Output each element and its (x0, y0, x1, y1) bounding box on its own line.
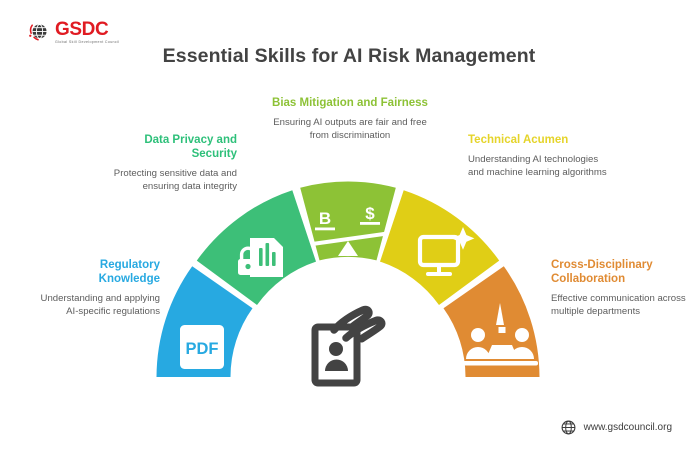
label-heading: Cross-Disciplinary Collaboration (551, 258, 691, 286)
label-cross-disciplinary-collaboration: Cross-Disciplinary Collaboration Effecti… (551, 258, 691, 318)
label-heading: Bias Mitigation and Fairness (268, 96, 432, 110)
brand-logo: GSDC Global Skill Development Council (28, 20, 119, 45)
footer-url[interactable]: www.gsdcouncil.org (584, 422, 672, 433)
footer: www.gsdcouncil.org (560, 419, 672, 436)
label-heading: Regulatory Knowledge (38, 258, 160, 286)
svg-text:PDF: PDF (186, 340, 219, 358)
page-title: Essential Skills for AI Risk Management (0, 45, 698, 68)
label-body: Protecting sensitive data and ensuring d… (104, 167, 237, 193)
globe-icon (560, 419, 577, 436)
label-data-privacy-and-security: Data Privacy and Security Protecting sen… (104, 133, 237, 193)
label-body: Effective communication across multiple … (551, 292, 691, 318)
brand-name: GSDC (55, 20, 119, 39)
infographic-page: GSDC Global Skill Development Council Es… (0, 0, 698, 458)
label-heading: Data Privacy and Security (104, 133, 237, 161)
label-bias-mitigation-and-fairness: Bias Mitigation and Fairness Ensuring AI… (268, 96, 432, 142)
svg-text:B: B (319, 209, 331, 228)
label-body: Understanding AI technologies and machin… (468, 153, 608, 179)
label-body: Ensuring AI outputs are fair and free fr… (268, 116, 432, 142)
label-heading: Technical Acumen (468, 133, 608, 147)
center-id-badge-hand-icon (315, 310, 382, 383)
label-regulatory-knowledge: Regulatory Knowledge Understanding and a… (38, 258, 160, 318)
wheel-segment-bias-mitigation-and-fairness[interactable]: B $ (300, 182, 396, 261)
label-body: Understanding and applying AI-specific r… (38, 292, 160, 318)
svg-text:$: $ (365, 204, 375, 223)
label-technical-acumen: Technical Acumen Understanding AI techno… (468, 133, 608, 179)
skills-wheel: PDF B (148, 175, 548, 380)
globe-icon (28, 21, 50, 43)
pdf-document-icon: PDF (180, 325, 224, 369)
